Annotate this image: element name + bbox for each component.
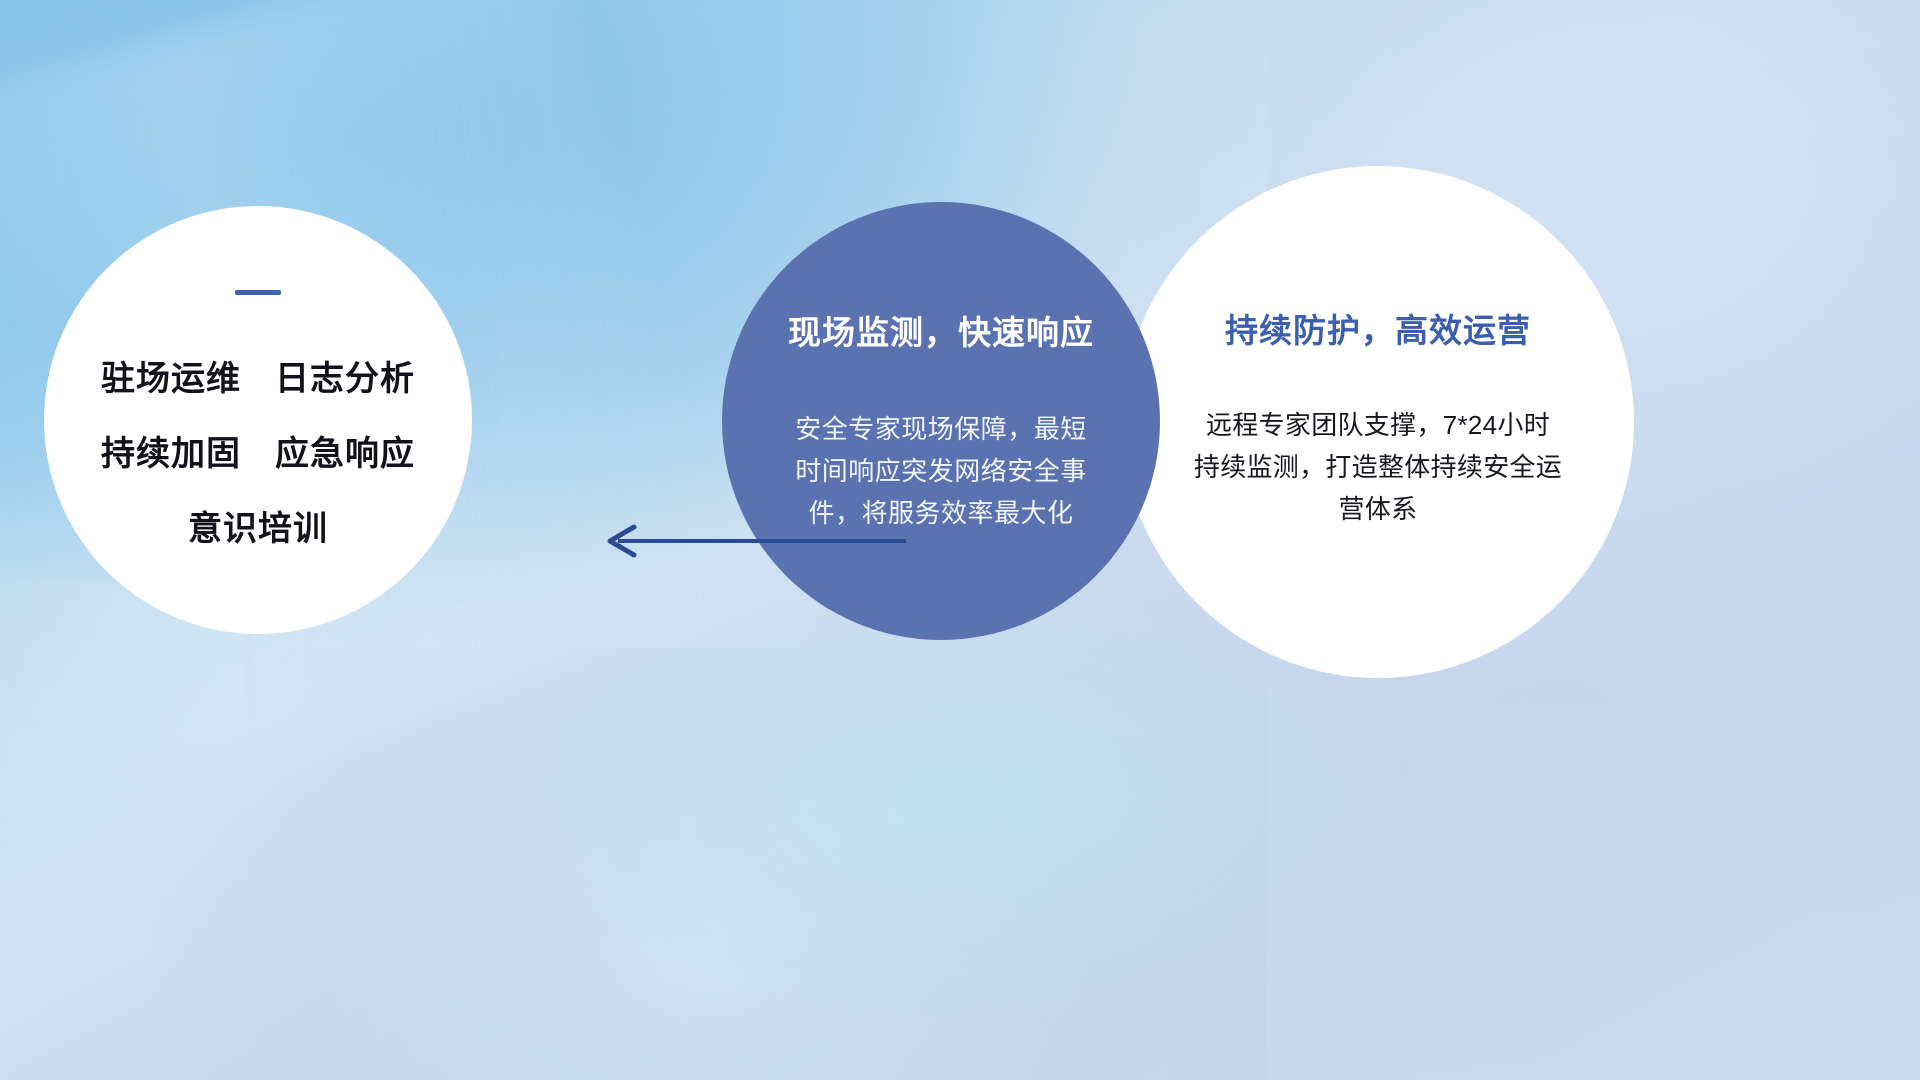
right-card-title: 持续防护，高效运营 (1225, 304, 1531, 352)
left-card-keyword-row: 持续加固 应急响应 (101, 426, 415, 475)
middle-card-body: 安全专家现场保障，最短时间响应突发网络安全事件，将服务效率最大化 (791, 408, 1091, 534)
keyword-item: 驻场运维 (101, 351, 241, 400)
keyword-item: 持续加固 (101, 426, 241, 475)
middle-card[interactable]: 现场监测，快速响应 安全专家现场保障，最短时间响应突发网络安全事件，将服务效率最… (722, 202, 1160, 640)
left-card-keyword-row: 意识培训 (188, 501, 328, 550)
right-card-body: 远程专家团队支撑，7*24小时持续监测，打造整体持续安全运营体系 (1193, 404, 1563, 530)
left-card-keyword-row: 驻场运维 日志分析 (101, 351, 415, 400)
keyword-item: 应急响应 (275, 426, 415, 475)
right-card[interactable]: 持续防护，高效运营 远程专家团队支撑，7*24小时持续监测，打造整体持续安全运营… (1122, 166, 1634, 678)
keyword-item: 意识培训 (188, 501, 328, 550)
keyword-item: 日志分析 (275, 351, 415, 400)
slide-canvas: 持续防护，高效运营 远程专家团队支撑，7*24小时持续监测，打造整体持续安全运营… (0, 0, 1920, 1080)
left-card-keyword-list: 驻场运维 日志分析 持续加固 应急响应 意识培训 (101, 351, 415, 550)
left-arrow-icon (600, 520, 910, 562)
connector-arrow (600, 520, 910, 562)
middle-card-title: 现场监测，快速响应 (788, 306, 1094, 354)
left-card[interactable]: 驻场运维 日志分析 持续加固 应急响应 意识培训 (44, 206, 472, 634)
short-dash-icon (235, 290, 281, 295)
